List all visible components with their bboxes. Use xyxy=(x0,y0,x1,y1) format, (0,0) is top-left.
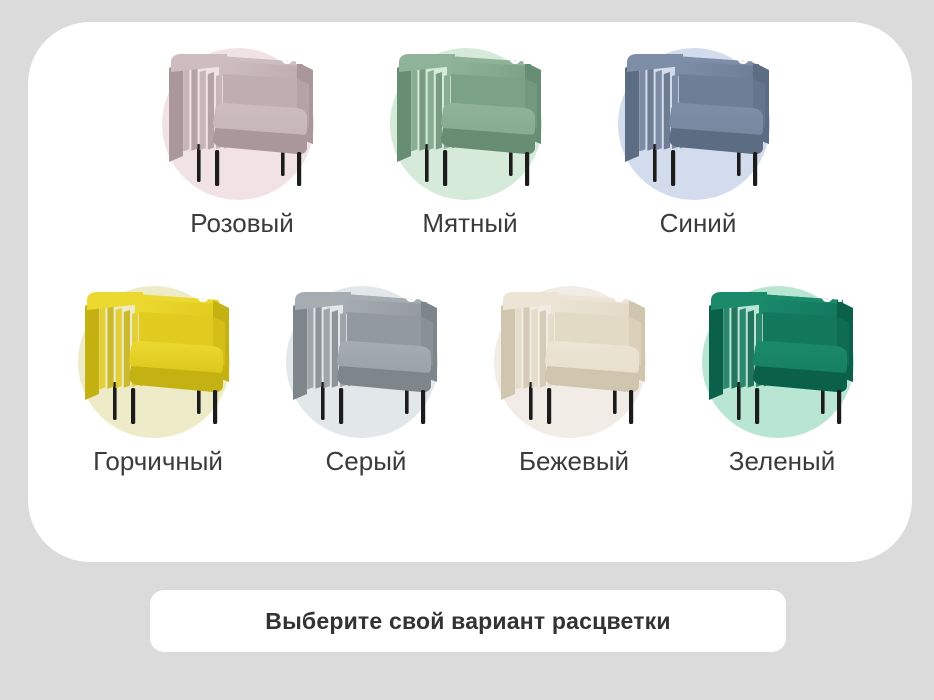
swatch-preview[interactable]: 07 xyxy=(697,270,867,440)
swatch-number: 05 xyxy=(404,282,433,307)
color-options-card: 01Розовый02Мятный03Синий 04Горчичный05Се… xyxy=(28,22,912,562)
swatch-number: 01 xyxy=(280,44,309,69)
swatch-label: Серый xyxy=(326,446,407,477)
swatch-item[interactable]: 07Зеленый xyxy=(691,270,873,477)
swatch-item[interactable]: 06Бежевый xyxy=(483,270,665,477)
swatch-number: 03 xyxy=(736,44,765,69)
swatch-preview[interactable]: 05 xyxy=(281,270,451,440)
swatch-item[interactable]: 03Синий xyxy=(607,32,789,239)
swatch-number: 02 xyxy=(508,44,537,69)
swatch-item[interactable]: 02Мятный xyxy=(379,32,561,239)
swatch-label: Розовый xyxy=(190,208,293,239)
swatch-label: Бежевый xyxy=(519,446,629,477)
swatch-label: Горчичный xyxy=(93,446,223,477)
swatch-item[interactable]: 01Розовый xyxy=(151,32,333,239)
swatch-number: 07 xyxy=(820,282,849,307)
swatch-number: 04 xyxy=(196,282,225,307)
cta-banner-label: Выберите свой вариант расцветки xyxy=(265,608,670,635)
swatch-item[interactable]: 05Серый xyxy=(275,270,457,477)
swatch-preview[interactable]: 01 xyxy=(157,32,327,202)
swatch-preview[interactable]: 06 xyxy=(489,270,659,440)
swatch-item[interactable]: 04Горчичный xyxy=(67,270,249,477)
swatch-preview[interactable]: 03 xyxy=(613,32,783,202)
cta-banner[interactable]: Выберите свой вариант расцветки xyxy=(150,590,786,652)
swatch-preview[interactable]: 04 xyxy=(73,270,243,440)
swatch-row-bottom: 04Горчичный05Серый06Бежевый07Зеленый xyxy=(28,270,912,477)
swatch-row-top: 01Розовый02Мятный03Синий xyxy=(28,32,912,239)
swatch-label: Синий xyxy=(660,208,737,239)
swatch-number: 06 xyxy=(612,282,641,307)
swatch-label: Зеленый xyxy=(729,446,836,477)
swatch-preview[interactable]: 02 xyxy=(385,32,555,202)
swatch-label: Мятный xyxy=(422,208,517,239)
